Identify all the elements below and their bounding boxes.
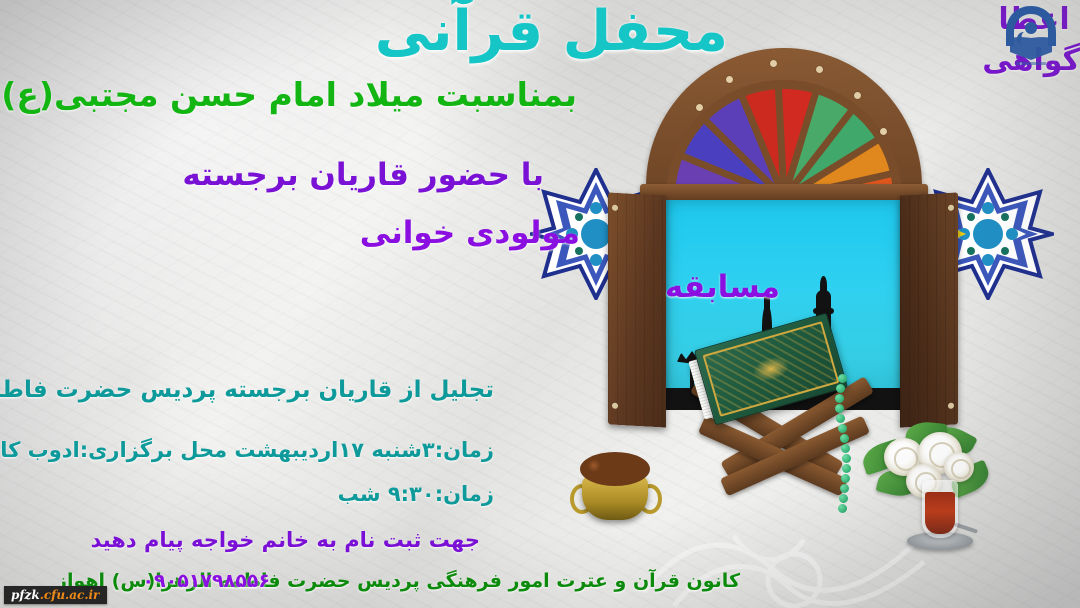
dates-bowl: [572, 446, 660, 522]
arch-stud: [726, 76, 733, 83]
site-watermark: pfzk.cfu.ac.ir: [4, 586, 107, 604]
window-shutter-left: [608, 192, 666, 427]
watermark-domain: .cfu.ac.ir: [40, 588, 100, 602]
feature-line-contest: مسابقه: [665, 272, 780, 303]
farhangian-university-logo: [994, 2, 1068, 68]
date-and-venue-line: زمان:۳شنبه ۱۷اردیبهشت محل برگزاری:ادوب ک…: [0, 440, 494, 461]
poster-canvas: محفل قرآنی بمناسبت میلاد امام حسن مجتبی(…: [0, 0, 1080, 608]
window-composition: [594, 44, 994, 608]
tea-glass: [910, 474, 970, 550]
registration-line: جهت ثبت نام به خانم خواجه پیام دهید: [91, 530, 480, 551]
arch-stud: [816, 66, 823, 73]
footer-phone-number: ۰۹۰۵۱۷۹۸۵۵۶: [142, 572, 270, 591]
honoring-line: تجلیل از قاریان برجسته پردیس حضرت فاطمه‌…: [0, 379, 494, 402]
stained-glass-arch: [646, 48, 922, 198]
arch-stud: [854, 92, 861, 99]
watermark-name: pfzk: [11, 588, 40, 602]
time-line: زمان:۹:۳۰ شب: [338, 484, 494, 505]
feature-line-molodi: مولودی خوانی: [360, 218, 580, 249]
arched-window-frame: [646, 48, 922, 198]
arch-stud: [880, 128, 887, 135]
occasion-subtitle: بمناسبت میلاد امام حسن مجتبی(ع): [1, 78, 577, 111]
window-shutter-right: [900, 192, 958, 427]
page-title: محفل قرآنی: [375, 4, 728, 60]
feature-line-qaris: با حضور قاریان برجسته: [182, 160, 544, 191]
arch-stud: [696, 104, 703, 111]
arch-stud: [770, 60, 777, 67]
tasbih-prayer-beads: [826, 374, 860, 514]
